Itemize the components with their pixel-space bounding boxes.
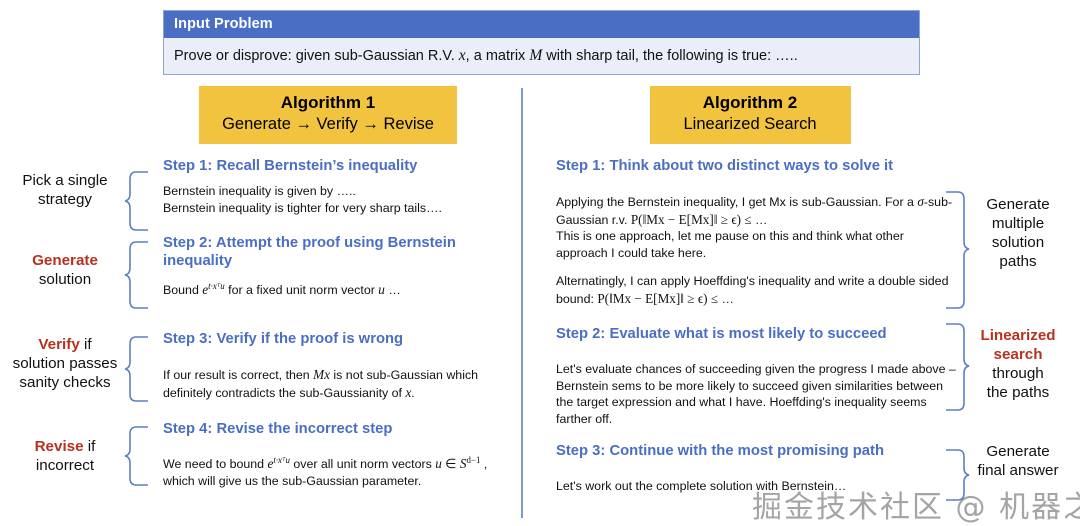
algorithm-2-subtitle: Linearized Search — [664, 114, 837, 135]
algo1-step4-math-s-exponent: d−1 — [467, 455, 481, 465]
algo1-step4-math-s: S — [460, 456, 467, 471]
algo1-step3-pre: If our result is correct, then — [163, 368, 313, 382]
algo1-step2-tail: … — [385, 283, 401, 297]
algo1-step1-line1: Bernstein inequality is given by ….. — [163, 183, 503, 200]
algo2-step1-heading: Step 1: Think about two distinct ways to… — [556, 157, 966, 175]
input-problem-card: Input Problem Prove or disprove: given s… — [163, 10, 920, 75]
algo1-step3-body: If our result is correct, then Mx is not… — [163, 366, 503, 401]
algo2-step2-body: Let's evaluate chances of succeeding giv… — [556, 361, 956, 427]
algorithm-1-column: Algorithm 1 Generate → Verify → Revise — [148, 86, 508, 144]
annotation-linearized-search: Linearized search through the paths — [958, 327, 1078, 402]
annotation-l4-emph: Revise — [35, 438, 84, 455]
algorithm-1-title: Algorithm 1 — [213, 92, 443, 114]
annotation-generate-final-answer: Generate final answer — [958, 443, 1078, 481]
algo1-step2-math-exponent: t·xᵀu — [208, 281, 225, 291]
algo1-step3-math-mx: Mx — [313, 367, 330, 382]
input-problem-text-2: , a matrix — [466, 48, 530, 64]
algo1-step2-post: for a fixed unit norm vector — [225, 283, 379, 297]
algo1-step2-heading: Step 2: Attempt the proof using Bernstei… — [163, 234, 498, 270]
annotation-r1-line1: Generate — [958, 196, 1078, 215]
algo1-step1-line2: Bernstein inequality is tighter for very… — [163, 200, 503, 217]
annotation-r1-line2: multiple — [958, 215, 1078, 234]
brace-right-final-answer — [944, 448, 970, 504]
algo1-step2-body: Bound et·xᵀu for a fixed unit norm vecto… — [163, 281, 503, 299]
annotation-r3-line2: final answer — [958, 462, 1078, 481]
input-problem-body: Prove or disprove: given sub-Gaussian R.… — [164, 38, 919, 74]
annotation-l1-line2: strategy — [0, 191, 130, 210]
brace-left-step1 — [124, 170, 150, 232]
algo2-step1-p3-math: P(‖Mx − E[Mx]‖ ≥ ϵ) ≤ — [597, 291, 718, 306]
algo1-step3-post: . — [411, 386, 414, 400]
annotation-l3-emph: Verify — [38, 336, 79, 353]
annotation-l4-line2: incorrect — [0, 457, 130, 476]
algo1-step4-math-exponent: t·xᵀu — [273, 455, 290, 465]
algo2-step1-p1c: … — [752, 213, 768, 227]
annotation-revise-if-incorrect: Revise if incorrect — [0, 438, 130, 476]
algo2-step3-heading: Step 3: Continue with the most promising… — [556, 442, 966, 460]
algo1-step4-math-in: ∈ — [442, 456, 460, 471]
algo1-step4-math-u: u — [435, 456, 442, 471]
algo2-step1-para2: This is one approach, let me pause on th… — [556, 228, 956, 261]
annotation-r1-line3: solution — [958, 234, 1078, 253]
algo1-step4-body: We need to bound et·xᵀu over all unit no… — [163, 455, 508, 489]
algorithm-2-column: Algorithm 2 Linearized Search — [540, 86, 960, 144]
algo2-step1-p1-math: P(‖Mx − E[Mx]‖ ≥ ϵ) ≤ — [631, 212, 752, 227]
annotation-r2-emph1: Linearized — [980, 327, 1055, 344]
annotation-r2-line4: the paths — [958, 384, 1078, 403]
annotation-l3-line2: solution passes — [0, 355, 130, 374]
input-problem-text-3: with sharp tail, the following is true: … — [542, 48, 797, 64]
column-divider — [521, 88, 523, 518]
brace-left-step4 — [124, 425, 150, 487]
algo2-step1-p3b: … — [718, 292, 734, 306]
annotation-l1-line1: Pick a single — [0, 172, 130, 191]
annotation-l4-line1-tail: if — [84, 438, 96, 455]
input-problem-var-m: M — [529, 47, 542, 64]
annotation-generate-multiple-paths: Generate multiple solution paths — [958, 196, 1078, 271]
algorithm-1-badge: Algorithm 1 Generate → Verify → Revise — [199, 86, 457, 144]
brace-left-step2 — [124, 240, 150, 310]
brace-right-generate-paths — [944, 190, 970, 312]
annotation-r2-emph2: search — [994, 346, 1043, 363]
algo1-step2-pre: Bound — [163, 283, 202, 297]
algo2-step3-body: Let's work out the complete solution wit… — [556, 478, 956, 495]
input-problem-header: Input Problem — [164, 11, 919, 38]
algo2-step2-heading: Step 2: Evaluate what is most likely to … — [556, 325, 966, 343]
annotation-l2-line2: solution — [0, 271, 130, 290]
annotation-l3-line3: sanity checks — [0, 374, 130, 393]
annotation-r2-line3: through — [958, 365, 1078, 384]
annotation-l2-emph: Generate — [32, 252, 98, 269]
slide-canvas: Input Problem Prove or disprove: given s… — [0, 0, 1080, 525]
algo2-step1-p1a: Applying the Bernstein inequality, I get… — [556, 195, 917, 209]
algo1-step1-heading: Step 1: Recall Bernstein’s inequality — [163, 157, 503, 175]
annotation-verify-sanity-checks: Verify if solution passes sanity checks — [0, 336, 130, 393]
algorithm-2-badge: Algorithm 2 Linearized Search — [650, 86, 851, 144]
brace-right-linearized-search — [944, 322, 970, 414]
algo2-step1-para1: Applying the Bernstein inequality, I get… — [556, 193, 956, 228]
algo1-step4-pre: We need to bound — [163, 457, 268, 471]
annotation-generate-solution: Generate solution — [0, 252, 130, 290]
annotation-l3-line1-tail: if — [80, 336, 92, 353]
annotation-r3-line1: Generate — [958, 443, 1078, 462]
input-problem-var-x: x — [459, 47, 466, 64]
algorithm-1-subtitle: Generate → Verify → Revise — [213, 114, 443, 135]
algo2-step1-spacer — [556, 261, 956, 273]
input-problem-text-1: Prove or disprove: given sub-Gaussian R.… — [174, 48, 459, 64]
annotation-r1-line4: paths — [958, 253, 1078, 272]
algo2-step1-para3: Alternatingly, I can apply Hoeffding's i… — [556, 273, 956, 307]
algo1-step4-mid: over all unit norm vectors — [290, 457, 435, 471]
annotation-pick-single-strategy: Pick a single strategy — [0, 172, 130, 210]
algo1-step1-body: Bernstein inequality is given by ….. Ber… — [163, 183, 503, 216]
algo1-step3-heading: Step 3: Verify if the proof is wrong — [163, 330, 503, 348]
brace-left-step3 — [124, 335, 150, 403]
algo1-step2-math-u: u — [378, 282, 385, 297]
algo2-step1-body: Applying the Bernstein inequality, I get… — [556, 193, 956, 307]
algo1-step4-heading: Step 4: Revise the incorrect step — [163, 420, 503, 438]
algorithm-2-title: Algorithm 2 — [664, 92, 837, 114]
